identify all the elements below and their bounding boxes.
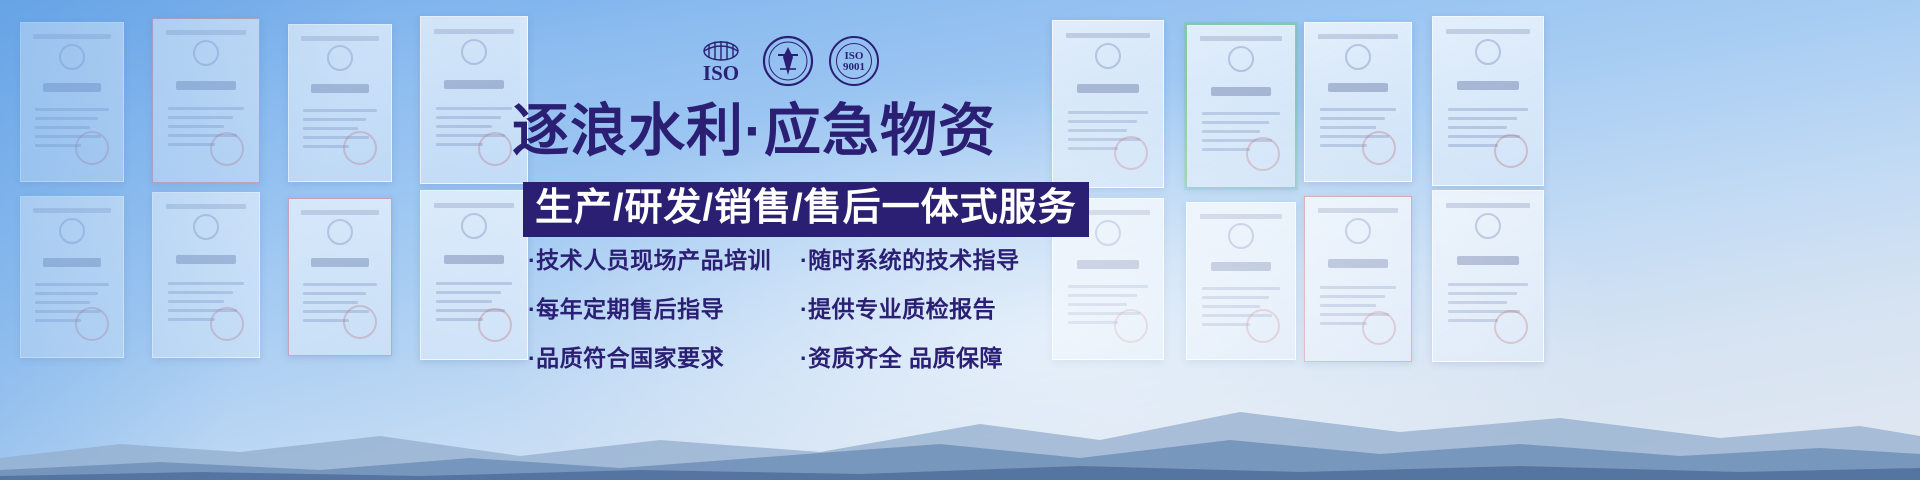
feature-item: ·每年定期售后指导	[528, 294, 800, 324]
page-title: 逐浪水利·应急物资	[512, 100, 1068, 162]
banner-content: 逐浪水利·应急物资 生产/研发/销售/售后一体式服务 ·技术人员现场产品培训 ·…	[0, 0, 1920, 480]
feature-item: ·提供专业质检报告	[800, 294, 1068, 324]
feature-list: ·技术人员现场产品培训 ·随时系统的技术指导 ·每年定期售后指导 ·提供专业质检…	[528, 245, 1088, 373]
feature-item: ·品质符合国家要求	[528, 343, 800, 373]
promo-banner: ISO ISO 9001 逐浪水利·应急物资 生产/研发/销售/售后一体式服务	[0, 0, 1920, 480]
feature-item: ·随时系统的技术指导	[800, 245, 1068, 275]
subtitle-bar: 生产/研发/销售/售后一体式服务	[523, 182, 1089, 237]
feature-item: ·资质齐全 品质保障	[800, 343, 1068, 373]
feature-item: ·技术人员现场产品培训	[528, 245, 800, 275]
